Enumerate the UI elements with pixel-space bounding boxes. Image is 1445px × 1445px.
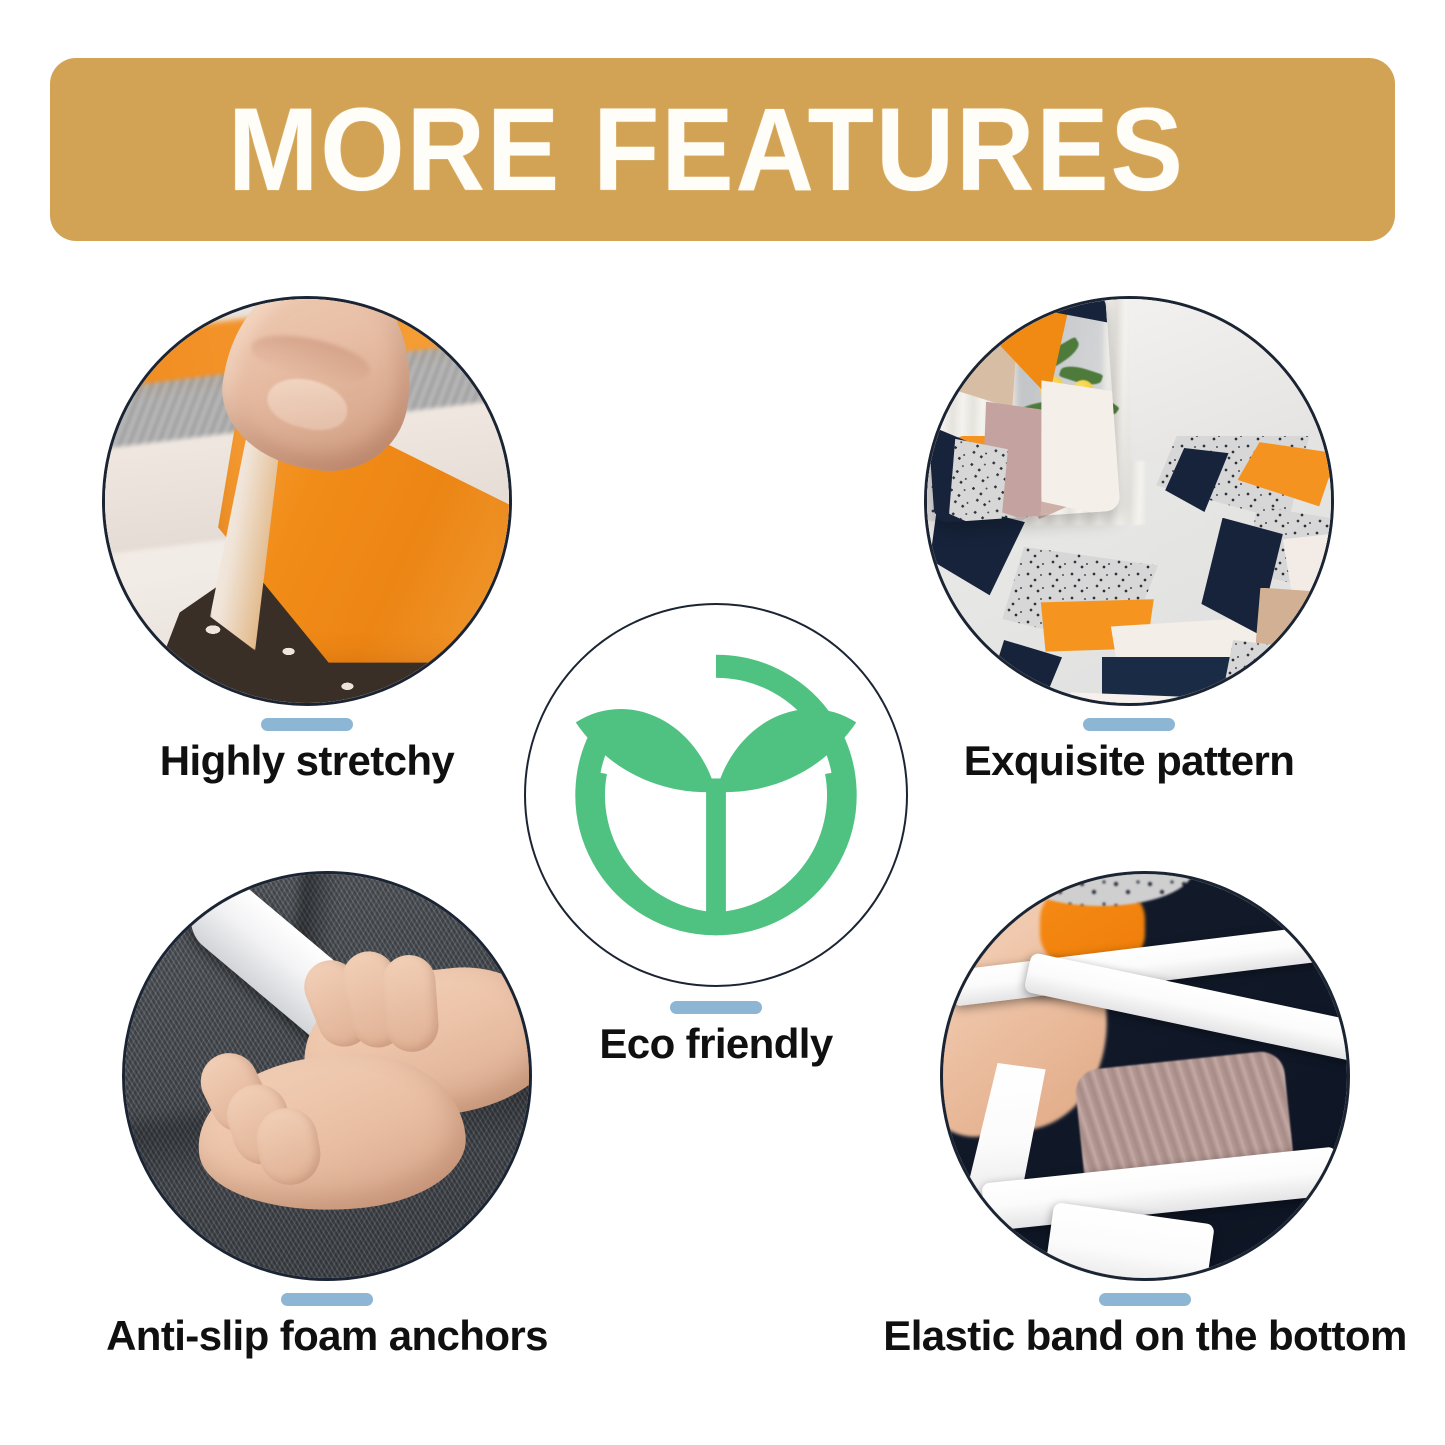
patch-cream: [1033, 375, 1120, 523]
feature-exquisite-pattern: Exquisite pattern: [894, 296, 1364, 784]
sprout-leaf-icon: [551, 630, 881, 960]
page-title: MORE FEATURES: [228, 91, 1185, 209]
feature-highly-stretchy: Highly stretchy: [72, 296, 542, 784]
throw-pillow: [924, 296, 1120, 523]
blue-pill-marker: [281, 1293, 373, 1306]
photo-anti-slip-foam-anchors: [122, 871, 532, 1281]
blue-pill-marker: [1083, 718, 1175, 731]
eco-friendly-label: Eco friendly: [524, 1020, 908, 1068]
feature-label-highly-stretchy: Highly stretchy: [72, 737, 542, 784]
eco-friendly-badge: Eco friendly: [524, 603, 908, 1068]
eco-circle-outline: [524, 603, 908, 987]
infographic-page: MORE FEATURES Highly stretchy: [0, 0, 1445, 1445]
photo-highly-stretchy: [102, 296, 512, 706]
finger: [380, 953, 439, 1053]
feature-label-exquisite-pattern: Exquisite pattern: [894, 737, 1364, 784]
blue-pill-marker: [1099, 1293, 1191, 1306]
photo-exquisite-pattern: [924, 296, 1334, 706]
feature-elastic-band-on-the-bottom: Elastic band on the bottom: [880, 871, 1410, 1359]
feature-label-anti-slip-foam-anchors: Anti-slip foam anchors: [62, 1312, 592, 1359]
header-banner: MORE FEATURES: [50, 58, 1395, 241]
feature-anti-slip-foam-anchors: Anti-slip foam anchors: [62, 871, 592, 1359]
blue-pill-marker: [670, 1001, 762, 1014]
photo-elastic-band-on-the-bottom: [940, 871, 1350, 1281]
blue-pill-marker: [261, 718, 353, 731]
feature-label-elastic-band-on-the-bottom: Elastic band on the bottom: [880, 1312, 1410, 1359]
